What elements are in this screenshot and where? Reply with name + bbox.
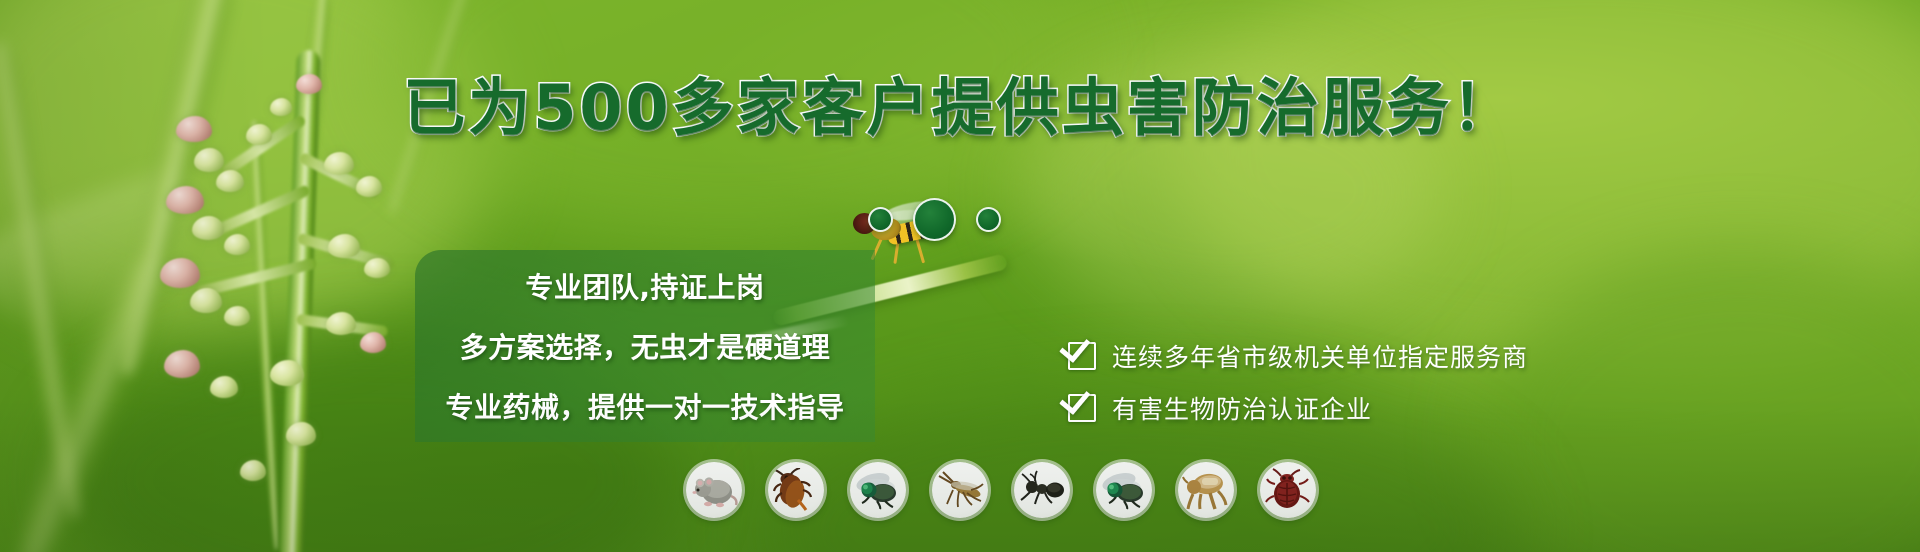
- cockroach-icon[interactable]: [768, 462, 824, 518]
- banner-headline: 已为500多家客户提供虫害防治服务！: [0, 74, 1920, 142]
- promo-banner: 已为500多家客户提供虫害防治服务！ 专业团队,持证上岗 多方案选择，无虫才是硬…: [0, 0, 1920, 552]
- selling-points-text: 专业团队,持证上岗 多方案选择，无虫才是硬道理 专业药械，提供一对一技术指导: [415, 250, 875, 442]
- credential-row: 有害生物防治认证企业: [1068, 382, 1528, 434]
- selling-point-3: 专业药械，提供一对一技术指导: [433, 386, 857, 426]
- credential-label-2: 有害生物防治认证企业: [1112, 390, 1372, 426]
- check-box-icon: [1068, 394, 1096, 422]
- rodent-icon[interactable]: [686, 462, 742, 518]
- credential-row: 连续多年省市级机关单位指定服务商: [1068, 330, 1528, 382]
- check-box-icon: [1068, 342, 1096, 370]
- selling-point-1: 专业团队,持证上岗: [433, 266, 857, 306]
- banner-headline-text: 已为500多家客户提供虫害防治服务！: [403, 71, 1516, 144]
- blowfly-icon[interactable]: [1096, 462, 1152, 518]
- credential-label-1: 连续多年省市级机关单位指定服务商: [1112, 338, 1528, 374]
- selling-point-2: 多方案选择，无虫才是硬道理: [433, 326, 857, 366]
- flea-icon[interactable]: [1178, 462, 1234, 518]
- ant-icon[interactable]: [1014, 462, 1070, 518]
- credentials-checklist: 连续多年省市级机关单位指定服务商 有害生物防治认证企业: [1068, 330, 1528, 434]
- dot-large-center: [913, 198, 956, 241]
- dot-small-left: [868, 207, 893, 232]
- bedbug-icon[interactable]: [1260, 462, 1316, 518]
- mosquito-icon[interactable]: [932, 462, 988, 518]
- dot-small-right: [976, 207, 1001, 232]
- decorative-dots: [868, 198, 1088, 236]
- housefly-icon[interactable]: [850, 462, 906, 518]
- pest-icon-row: [686, 462, 1316, 518]
